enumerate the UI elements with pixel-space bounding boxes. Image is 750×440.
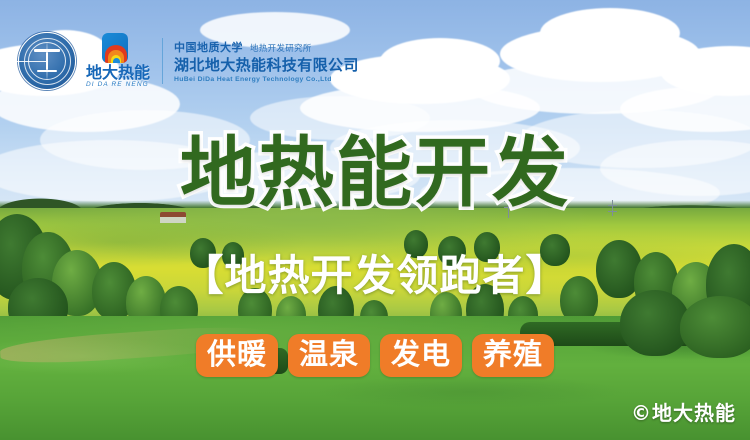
seal-glyph-foot	[37, 70, 57, 73]
seal-glyph-stem	[46, 52, 49, 70]
page-subtitle: 【地热开发领跑者】	[0, 252, 750, 300]
page-title: 地热能开发	[0, 132, 750, 214]
service-tag-list: 供暖 温泉 发电 养殖	[0, 334, 750, 377]
organization-text: 中国地质大学 地热开发研究所 湖北地大热能科技有限公司 HuBei DiDa H…	[174, 39, 359, 84]
company-name-en: HuBei DiDa Heat Energy Technology Co.,Lt…	[174, 75, 359, 84]
university-name: 中国地质大学	[174, 39, 243, 55]
promotional-banner: 地大热能 DI DA RE NENG 中国地质大学 地热开发研究所 湖北地大热能…	[0, 0, 750, 440]
company-name-zh: 湖北地大热能科技有限公司	[174, 56, 359, 75]
service-tag[interactable]: 发电	[380, 334, 462, 377]
service-tag[interactable]: 温泉	[288, 334, 370, 377]
brand-mark: 地大热能 DI DA RE NENG	[86, 33, 150, 89]
seal-glyph	[19, 49, 75, 72]
university-seal-icon	[18, 32, 76, 90]
copyright-watermark: ©地大热能	[631, 397, 736, 426]
rainbow-arc-blue	[113, 58, 120, 63]
institute-name: 地热开发研究所	[250, 42, 312, 54]
cloud	[540, 8, 680, 58]
service-tag[interactable]: 养殖	[472, 334, 554, 377]
barn-wall	[160, 217, 186, 223]
brand-header: 地大热能 DI DA RE NENG 中国地质大学 地热开发研究所 湖北地大热能…	[18, 30, 359, 92]
rainbow-square-icon	[102, 33, 128, 63]
organization-line-1: 中国地质大学 地热开发研究所	[174, 39, 359, 55]
header-divider	[162, 38, 163, 84]
brand-name-zh: 地大热能	[86, 64, 150, 81]
service-tag[interactable]: 供暖	[196, 334, 278, 377]
brand-name-pinyin: DI DA RE NENG	[86, 81, 149, 89]
